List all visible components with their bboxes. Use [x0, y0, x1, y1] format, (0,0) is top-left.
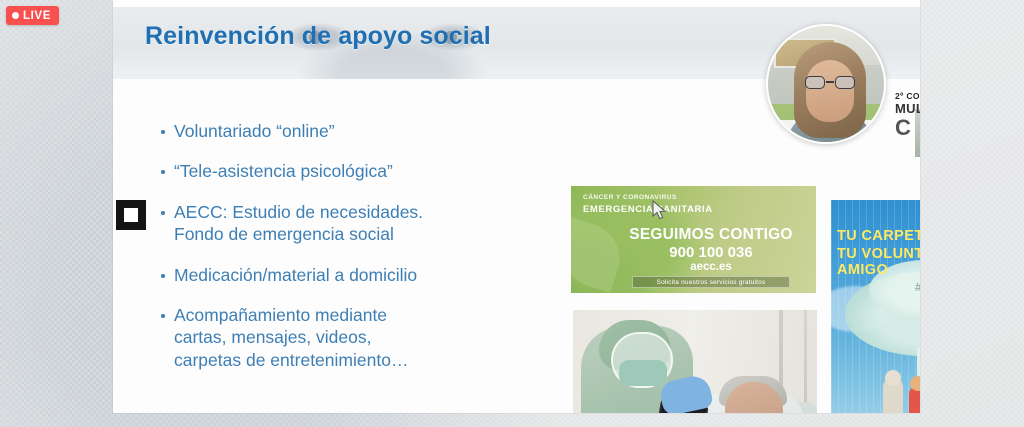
banner-subkicker: EMERGENCIA SANITARIA	[583, 204, 713, 215]
glasses-icon	[805, 76, 855, 89]
bullet-dot-icon	[161, 130, 165, 134]
list-item: Medicación/material a domicilio	[161, 264, 481, 286]
banner-phone: 900 100 036	[618, 244, 804, 261]
bullet-dot-icon	[161, 211, 165, 215]
banner-website: aecc.es	[618, 261, 804, 273]
poster-line-1: TU CARPETA AMIGA	[837, 228, 920, 244]
list-item-label: AECC: Estudio de necesidades. Fondo de e…	[174, 201, 423, 246]
figure-child-head	[910, 376, 920, 391]
webcam-person-face	[806, 60, 854, 122]
aecc-campaign-banner: CÁNCER Y CORONAVIRUS EMERGENCIA SANITARI…	[571, 186, 816, 293]
figure-adult-head	[885, 370, 901, 386]
record-dot-icon	[12, 12, 19, 19]
congress-line-2: MULTIDISCIPLINAR	[895, 101, 920, 116]
glasses-lens-left	[805, 76, 825, 89]
list-item-label: “Tele-asistencia psicológica”	[174, 160, 393, 182]
mouse-cursor	[652, 200, 668, 222]
list-item: Acompañamiento mediante cartas, mensajes…	[161, 304, 481, 371]
live-badge-label: LIVE	[23, 10, 51, 22]
bullet-dot-icon	[161, 274, 165, 278]
list-item-label: Medicación/material a domicilio	[174, 264, 417, 286]
congress-line-1: 2º CONGRESO NACIONAL	[895, 91, 920, 101]
banner-headline: SEGUIMOS CONTIGO	[618, 226, 804, 244]
hospital-photo	[573, 310, 817, 413]
surgical-mask-icon	[619, 360, 667, 386]
glasses-bridge	[826, 81, 834, 83]
poster-line-2: TU VOLUNTARIO AMIGO	[837, 246, 920, 278]
fade-poster: # TU CARPETA AMIGA TU VOLUNTARIO AMIGO F…	[831, 200, 920, 413]
list-item: AECC: Estudio de necesidades. Fondo de e…	[161, 201, 481, 246]
page-title: Reinvención de apoyo social	[145, 22, 491, 51]
bullet-dot-icon	[161, 314, 165, 318]
bullet-dot-icon	[161, 170, 165, 174]
glasses-lens-right	[835, 76, 855, 89]
list-item: “Tele-asistencia psicológica”	[161, 160, 481, 182]
bullet-list: Voluntariado “online” “Tele-asistencia p…	[161, 120, 481, 389]
list-item-label: Acompañamiento mediante cartas, mensajes…	[174, 304, 408, 371]
banner-cta-button[interactable]: Solicita nuestros servicios gratuitos	[632, 276, 790, 288]
congress-line-3: C	[895, 115, 911, 141]
speaker-video-avatar[interactable]	[766, 24, 886, 144]
list-item-label: Voluntariado “online”	[174, 120, 335, 142]
live-badge: LIVE	[6, 6, 59, 25]
screen-share-view: LIVE Reinvención de apoyo social Volunta…	[0, 0, 1024, 427]
stop-square-marker[interactable]	[116, 200, 146, 230]
stop-inner-square	[124, 208, 138, 222]
list-item: Voluntariado “online”	[161, 120, 481, 142]
iv-pole-secondary	[804, 310, 807, 413]
hash-symbol-icon: #	[915, 280, 920, 294]
